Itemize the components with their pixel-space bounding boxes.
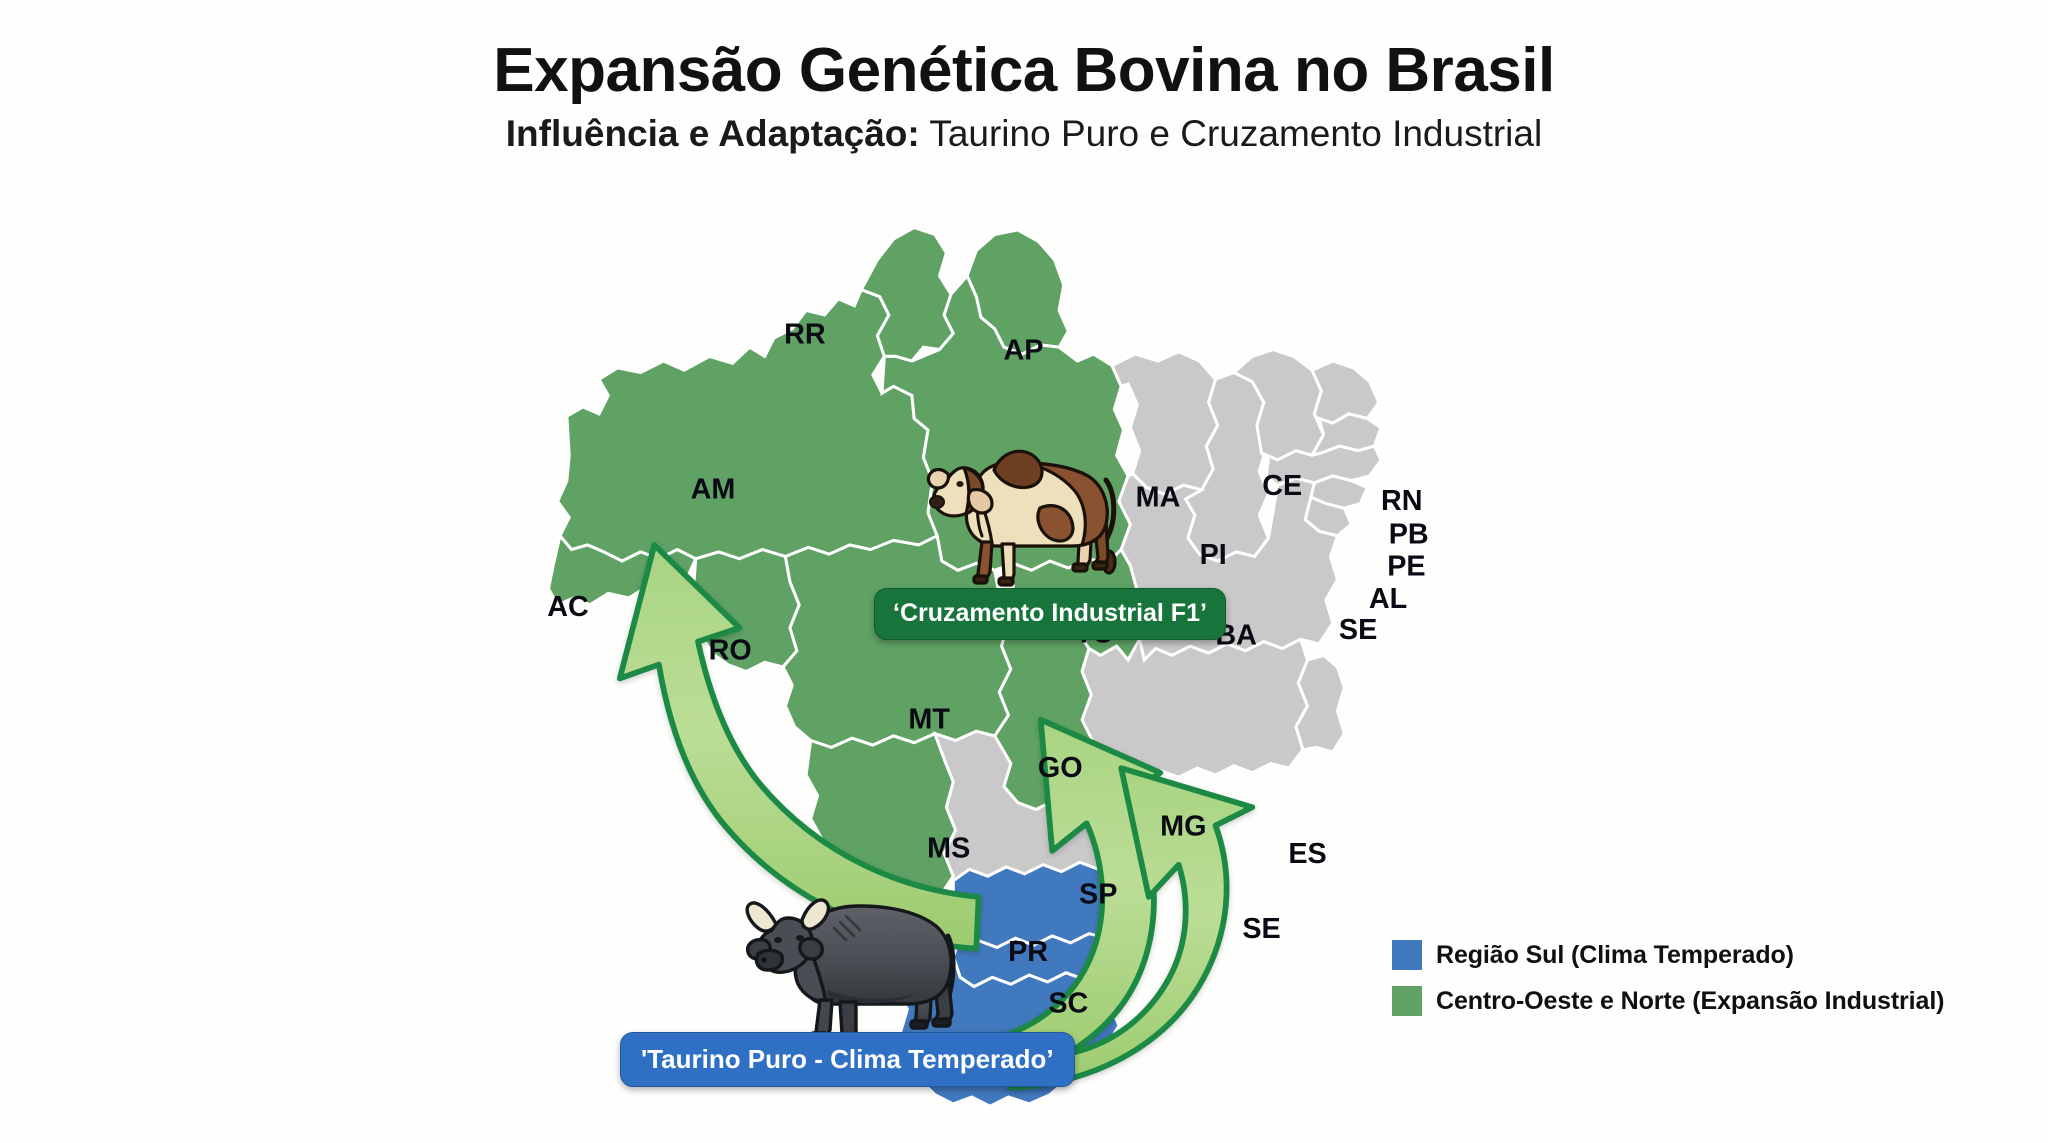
state-label-SE: SE (1242, 913, 1280, 945)
state-label-PE: PE (1387, 551, 1425, 583)
state-label-MS: MS (927, 832, 970, 864)
legend-label-centro-oeste-norte: Centro-Oeste e Norte (Expansão Industria… (1436, 987, 1944, 1016)
state-label-PI: PI (1200, 539, 1227, 571)
brazil-map-svg: RRAPAMPAACROTOMTMSGOMAPICERNPBPEALSEBAMG… (520, 200, 1520, 1120)
state-label-ES: ES (1288, 838, 1326, 870)
state-label-AP: AP (1003, 334, 1043, 366)
subtitle-strong: Influência e Adaptação: (506, 113, 920, 154)
callout-taurino-puro[interactable]: 'Taurino Puro - Clima Temperado’ (620, 1032, 1075, 1087)
state-label-GO: GO (1038, 752, 1083, 784)
state-label-AL: AL (1369, 583, 1407, 615)
state-label-PB: PB (1389, 518, 1429, 550)
state-label-RO: RO (709, 635, 752, 667)
title-block: Expansão Genética Bovina no Brasil Influ… (0, 38, 2048, 156)
state-label-SC: SC (1048, 988, 1088, 1020)
page-subtitle: Influência e Adaptação: Taurino Puro e C… (0, 113, 2048, 156)
angus-taurine-bull-illustration (742, 878, 982, 1043)
state-label-SP: SP (1079, 878, 1117, 910)
state-label-PR: PR (1008, 936, 1048, 968)
state-label-AM: AM (691, 474, 736, 506)
state-label-MG: MG (1160, 810, 1206, 842)
legend-swatch-blue-icon (1392, 940, 1422, 970)
state-label-SE: SE (1339, 614, 1377, 646)
legend-item-centro-oeste-norte[interactable]: Centro-Oeste e Norte (Expansão Industria… (1392, 986, 1944, 1016)
legend-swatch-green-icon (1392, 986, 1422, 1016)
state-label-RR: RR (784, 318, 826, 350)
subtitle-rest: Taurino Puro e Cruzamento Industrial (920, 113, 1542, 154)
legend-label-regiao-sul: Região Sul (Clima Temperado) (1436, 941, 1794, 970)
map-legend: Região Sul (Clima Temperado) Centro-Oest… (1392, 940, 1944, 1016)
brahman-zebu-bull-illustration (920, 428, 1140, 588)
state-label-RN: RN (1381, 485, 1423, 517)
state-label-MA: MA (1136, 482, 1181, 514)
brazil-map[interactable]: RRAPAMPAACROTOMTMSGOMAPICERNPBPEALSEBAMG… (520, 200, 1520, 1120)
legend-item-regiao-sul[interactable]: Região Sul (Clima Temperado) (1392, 940, 1944, 970)
state-label-AC: AC (547, 591, 589, 623)
callout-cruzamento-industrial-f1[interactable]: ‘Cruzamento Industrial F1’ (874, 588, 1226, 640)
infographic-canvas: Expansão Genética Bovina no Brasil Influ… (0, 0, 2048, 1143)
state-label-MT: MT (908, 704, 950, 736)
state-label-CE: CE (1262, 470, 1302, 502)
page-title: Expansão Genética Bovina no Brasil (0, 38, 2048, 103)
